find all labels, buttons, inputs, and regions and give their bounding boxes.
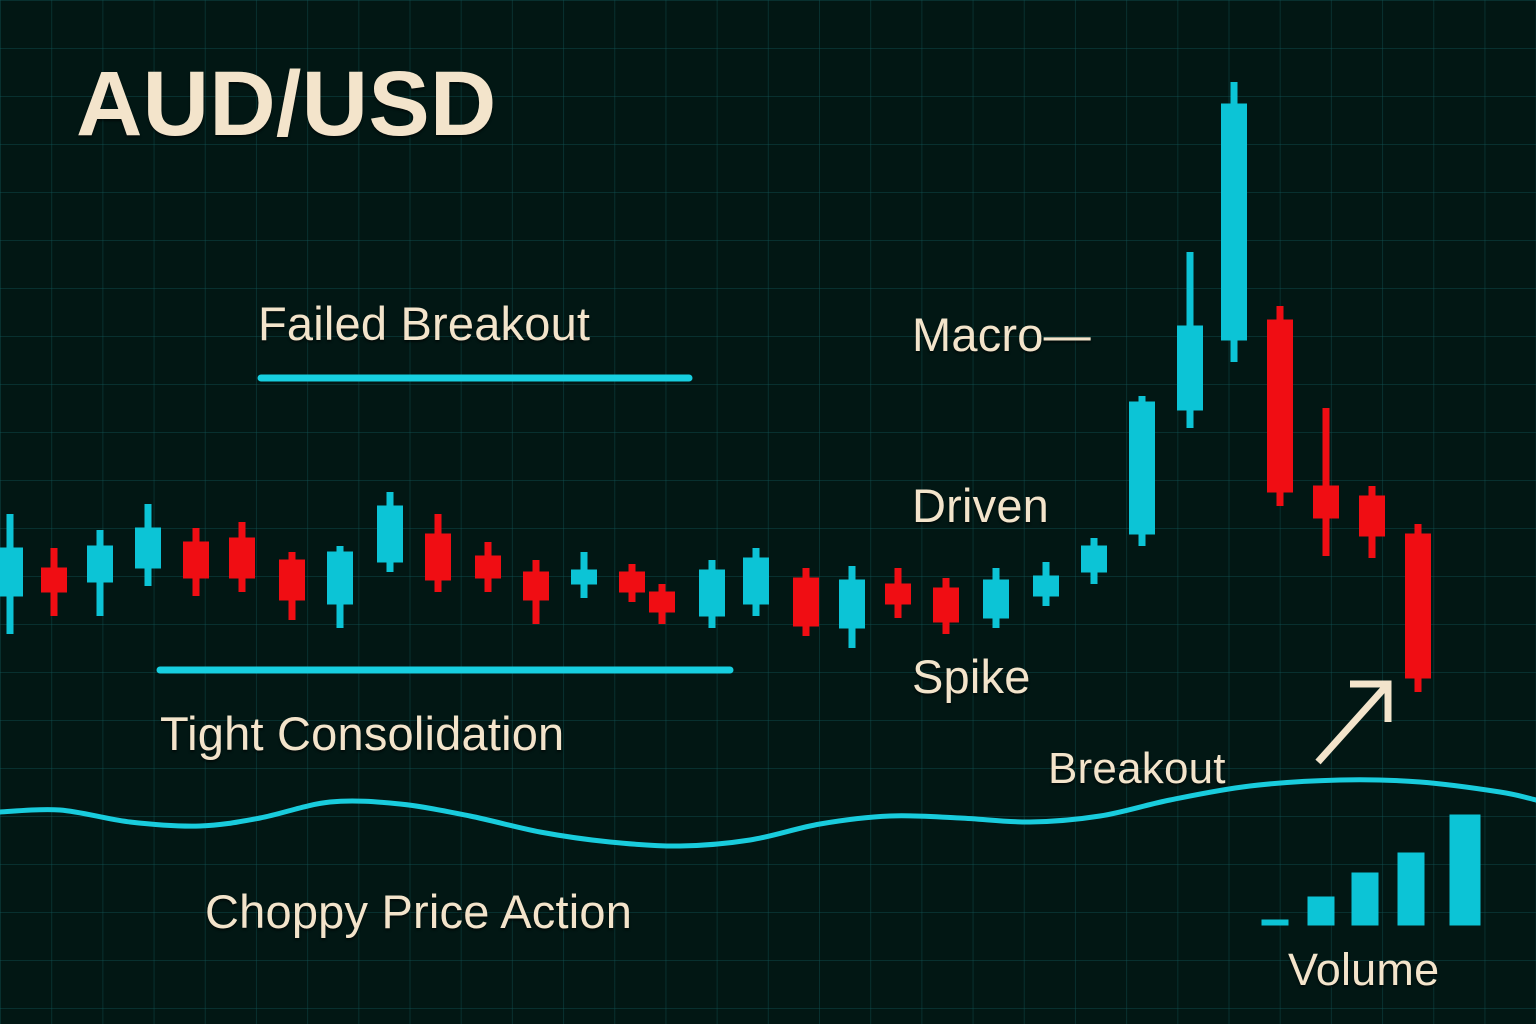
choppy-price-wave-path: [0, 780, 1536, 846]
breakout-arrow-icon: [1318, 684, 1388, 762]
candle-body: [620, 572, 645, 592]
volume-bar: [1352, 873, 1378, 925]
candle-wick: [1323, 408, 1330, 556]
candle-body: [230, 538, 255, 578]
volume-axis-label: Volume: [1288, 944, 1439, 996]
candle-body: [572, 570, 597, 584]
candle-body: [426, 534, 451, 580]
candle-body: [42, 568, 67, 592]
annotation-macro-line-3: Spike: [912, 648, 1091, 705]
annotation-macro-line-1: Macro—: [912, 306, 1091, 363]
chart-canvas: AUD/USD Failed Breakout Macro— Driven Sp…: [0, 0, 1536, 1024]
annotation-failed-breakout: Failed Breakout: [258, 296, 590, 351]
candle-body: [744, 558, 769, 604]
volume-bar: [1308, 897, 1334, 925]
candle-body: [1268, 320, 1293, 492]
volume-bar: [1450, 815, 1480, 925]
annotation-macro-line-2: Driven: [912, 477, 1091, 534]
annotation-macro-driven-spike: Macro— Driven Spike: [912, 192, 1091, 819]
volume-bar: [1398, 853, 1424, 925]
candle-body: [840, 580, 865, 628]
candle-body: [280, 560, 305, 600]
candle-body: [1314, 486, 1339, 518]
candle-body: [184, 542, 209, 578]
page-title: AUD/USD: [76, 58, 497, 150]
candle-body: [650, 592, 675, 612]
candle-body: [700, 570, 725, 616]
choppy-price-wave: [0, 780, 1536, 846]
annotation-tight-consolidation: Tight Consolidation: [160, 706, 564, 761]
candle-body: [328, 552, 353, 604]
annotation-choppy-price-action: Choppy Price Action: [205, 884, 632, 939]
candle-body: [794, 578, 819, 626]
annotation-breakout: Breakout: [1048, 744, 1226, 794]
candle-body: [1406, 534, 1431, 678]
breakout-arrow-shaft: [1318, 684, 1388, 762]
candlestick-series: [0, 82, 1431, 692]
candle-body: [524, 572, 549, 600]
volume-bar-series: [1262, 815, 1480, 925]
candle-body: [0, 548, 23, 596]
volume-bar: [1262, 920, 1288, 925]
candle-body: [886, 584, 911, 604]
candle-body: [378, 506, 403, 562]
candle-body: [1178, 326, 1203, 410]
candle-body: [1360, 496, 1385, 536]
candle-body: [476, 556, 501, 578]
candle-body: [1222, 104, 1247, 340]
candle-body: [88, 546, 113, 582]
candle-body: [1130, 402, 1155, 534]
candle-body: [136, 528, 161, 568]
